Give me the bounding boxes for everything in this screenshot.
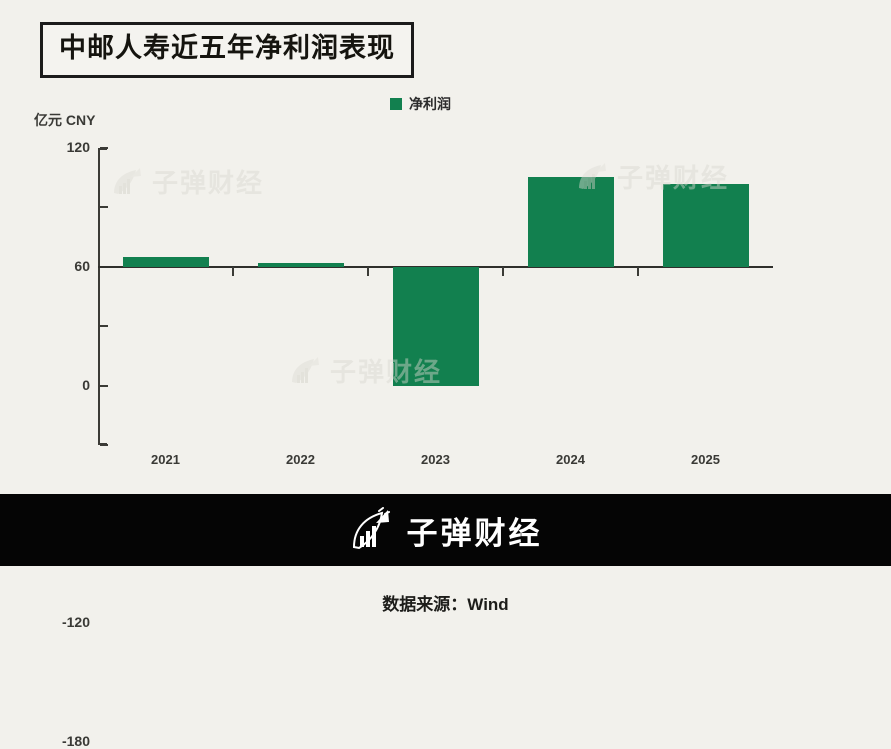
y-tick-label: 120 xyxy=(67,139,90,155)
y-axis-unit-label: 亿元 CNY xyxy=(34,110,95,130)
rocket-chart-logo-icon xyxy=(349,507,393,553)
footer-brand-band: 子弹财经 xyxy=(0,494,891,566)
bar xyxy=(258,263,344,267)
x-axis-label: 2024 xyxy=(556,452,585,467)
bar xyxy=(123,257,209,267)
x-axis-labels: 20212022202320242025 xyxy=(98,452,773,476)
bar-group xyxy=(98,148,773,445)
data-source-note: 数据来源：Wind xyxy=(0,590,891,615)
x-axis-label: 2025 xyxy=(691,452,720,467)
footer-brand-text: 子弹财经 xyxy=(407,508,543,553)
x-axis-label: 2023 xyxy=(421,452,450,467)
bar xyxy=(393,267,479,386)
bar xyxy=(663,184,749,267)
bar xyxy=(528,177,614,267)
y-tick-label: 60 xyxy=(74,258,90,274)
plot-region: 120600-60-120-180 xyxy=(98,148,773,445)
y-tick-label: -180 xyxy=(62,733,90,749)
y-tick-label: -120 xyxy=(62,614,90,630)
x-axis-label: 2022 xyxy=(286,452,315,467)
chart-area: 亿元 CNY 120600-60-120-180 202120222023202… xyxy=(0,0,891,494)
x-axis-label: 2021 xyxy=(151,452,180,467)
y-tick-label: 0 xyxy=(82,377,90,393)
